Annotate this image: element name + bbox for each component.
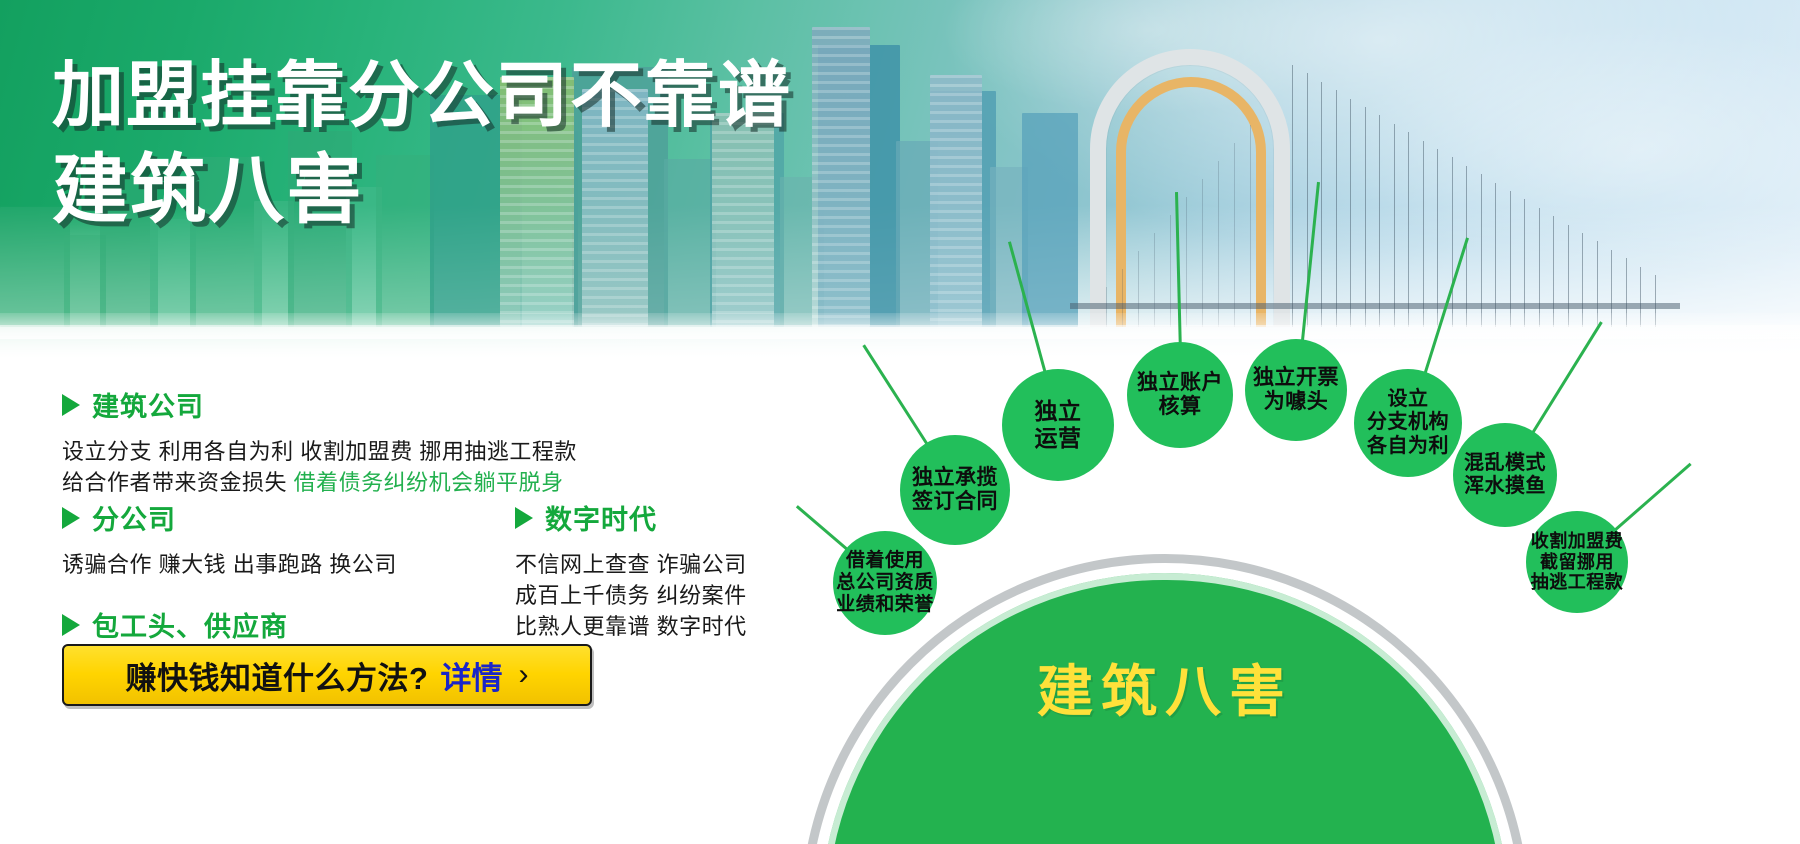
section-line: 给合作者带来资金损失 借着债务纠纷机会躺平脱身 — [62, 467, 702, 498]
section-construction-company: 建筑公司 设立分支 利用各自为利 收割加盟费 挪用抽逃工程款 给合作者带来资金损… — [62, 385, 702, 498]
cta-button[interactable]: 赚快钱知道什么方法? 详情 › — [62, 644, 592, 706]
bridge-cable — [1350, 99, 1351, 327]
liede-bridge-illustration — [920, 27, 1680, 327]
section-header: 包工头、供应商 — [62, 605, 532, 644]
bridge-cable — [1481, 174, 1482, 327]
triangle-bullet-icon — [62, 614, 80, 636]
section-body: 设立分支 利用各自为利 收割加盟费 挪用抽逃工程款 给合作者带来资金损失 借着债… — [62, 436, 702, 498]
bubble-text: 独立开票为噱头 — [1253, 366, 1339, 415]
chevron-right-icon: › — [518, 658, 528, 692]
bubble-line: 为噱头 — [1253, 390, 1339, 414]
section-title: 分公司 — [92, 498, 176, 537]
bubble-line: 总公司资质 — [836, 572, 934, 594]
bubble-4[interactable]: 独立账户核算 — [1127, 342, 1233, 448]
bubble-line: 签订合同 — [912, 490, 998, 514]
bridge-cable — [1437, 149, 1438, 327]
content-area: 建筑公司 设立分支 利用各自为利 收割加盟费 挪用抽逃工程款 给合作者带来资金损… — [0, 373, 800, 844]
bridge-deck — [1070, 303, 1680, 309]
section-body: 不信网上查查 诈骗公司 成百上千债务 纠纷案件 比熟人更靠谱 数字时代 — [515, 549, 795, 643]
bubble-text: 设立分支机构各自为利 — [1367, 388, 1449, 458]
bubble-text: 混乱模式浑水摸鱼 — [1464, 452, 1546, 498]
bubble-8[interactable]: 收割加盟费截留挪用抽逃工程款 — [1526, 511, 1628, 613]
bubble-line: 运营 — [1035, 425, 1082, 452]
bridge-cable — [1336, 90, 1337, 327]
bridge-cable — [1365, 107, 1366, 327]
bubble-line: 各自为利 — [1367, 435, 1449, 458]
bubble-line: 核算 — [1137, 395, 1223, 419]
section-body: 诱骗合作 赚大钱 出事跑路 换公司 — [62, 549, 492, 580]
tower-silhouette — [812, 27, 870, 327]
bridge-cable — [1452, 157, 1453, 327]
bridge-cable — [1186, 197, 1187, 327]
section-title: 建筑公司 — [92, 385, 204, 424]
bubble-line: 收割加盟费 — [1531, 531, 1624, 552]
bubble-text: 独立运营 — [1035, 398, 1082, 451]
bridge-cable — [1408, 132, 1409, 327]
bridge-cable — [1568, 225, 1569, 327]
section-header: 分公司 — [62, 498, 492, 537]
bubble-text: 独立账户核算 — [1137, 371, 1223, 420]
bubble-5[interactable]: 独立开票为噱头 — [1245, 339, 1347, 441]
bubble-7[interactable]: 混乱模式浑水摸鱼 — [1453, 423, 1557, 527]
hero-banner: 加盟挂靠分公司不靠谱 建筑八害 — [0, 0, 1800, 373]
hero-title-block: 加盟挂靠分公司不靠谱 建筑八害 — [52, 58, 792, 232]
bubble-line: 借着使用 — [836, 550, 934, 572]
section-line: 比熟人更靠谱 数字时代 — [515, 611, 795, 642]
bubble-line: 独立账户 — [1137, 371, 1223, 395]
poster-root: 加盟挂靠分公司不靠谱 建筑八害 建筑公司 设立分支 利用各自为利 收割加盟费 挪… — [0, 0, 1800, 844]
bridge-cable — [1539, 208, 1540, 327]
bridge-cable — [1202, 179, 1203, 327]
cta-detail-link[interactable]: 详情 — [440, 653, 502, 698]
bridge-cable — [1394, 124, 1395, 327]
bubble-line: 浑水摸鱼 — [1464, 475, 1546, 498]
bubble-line: 独立开票 — [1253, 366, 1339, 390]
cta-main-label: 赚快钱知道什么方法? — [126, 653, 429, 698]
section-line: 设立分支 利用各自为利 收割加盟费 挪用抽逃工程款 — [62, 436, 702, 467]
bubble-text: 收割加盟费截留挪用抽逃工程款 — [1531, 531, 1624, 594]
bubble-diagram: 建筑八害 借着使用总公司资质业绩和荣誉独立承揽签订合同独立运营独立账户核算独立开… — [790, 330, 1800, 844]
bubble-line: 混乱模式 — [1464, 452, 1546, 475]
bubble-text: 借着使用总公司资质业绩和荣誉 — [836, 550, 934, 616]
bridge-cable — [1423, 141, 1424, 327]
section-line: 成百上千债务 纠纷案件 — [515, 580, 795, 611]
section-title: 包工头、供应商 — [92, 605, 288, 644]
bubble-line: 抽逃工程款 — [1531, 572, 1624, 593]
section-digital-era: 数字时代 不信网上查查 诈骗公司 成百上千债务 纠纷案件 比熟人更靠谱 数字时代 — [515, 498, 795, 643]
section-header: 建筑公司 — [62, 385, 702, 424]
bridge-cable — [1292, 65, 1293, 327]
bubble-1[interactable]: 借着使用总公司资质业绩和荣誉 — [833, 531, 937, 635]
bridge-cable — [1379, 115, 1380, 327]
section-branch-company: 分公司 诱骗合作 赚大钱 出事跑路 换公司 — [62, 498, 492, 580]
bubble-2[interactable]: 独立承揽签订合同 — [900, 435, 1010, 545]
bridge-cable — [1218, 161, 1219, 327]
bridge-cable — [1524, 199, 1525, 327]
bubble-text: 独立承揽签订合同 — [912, 466, 998, 515]
bubble-6[interactable]: 设立分支机构各自为利 — [1354, 369, 1462, 477]
bubble-line: 截留挪用 — [1531, 552, 1624, 573]
bridge-cable — [1510, 191, 1511, 327]
bubble-3[interactable]: 独立运营 — [1002, 369, 1114, 481]
section-header: 数字时代 — [515, 498, 795, 537]
triangle-bullet-icon — [515, 507, 533, 529]
bridge-cable — [1170, 215, 1171, 327]
bubble-line: 分支机构 — [1367, 411, 1449, 434]
triangle-bullet-icon — [62, 394, 80, 416]
bubble-line: 设立 — [1367, 388, 1449, 411]
section-line: 诱骗合作 赚大钱 出事跑路 换公司 — [62, 549, 492, 580]
bridge-cable — [1250, 125, 1251, 327]
bridge-cable — [1495, 183, 1496, 327]
bubble-line: 独立承揽 — [912, 466, 998, 490]
section-title: 数字时代 — [545, 498, 657, 537]
bubble-line: 业绩和荣誉 — [836, 594, 934, 616]
hero-title-line-1: 加盟挂靠分公司不靠谱 — [52, 58, 792, 136]
triangle-bullet-icon — [62, 507, 80, 529]
bridge-cable — [1234, 143, 1235, 327]
hero-title-line-2: 建筑八害 — [52, 150, 792, 232]
bridge-cable — [1321, 82, 1322, 327]
bubble-line: 独立 — [1035, 398, 1082, 425]
section-line: 不信网上查查 诈骗公司 — [515, 549, 795, 580]
highlight-text: 借着债务纠纷机会躺平脱身 — [294, 470, 564, 495]
bridge-cable — [1553, 216, 1554, 327]
